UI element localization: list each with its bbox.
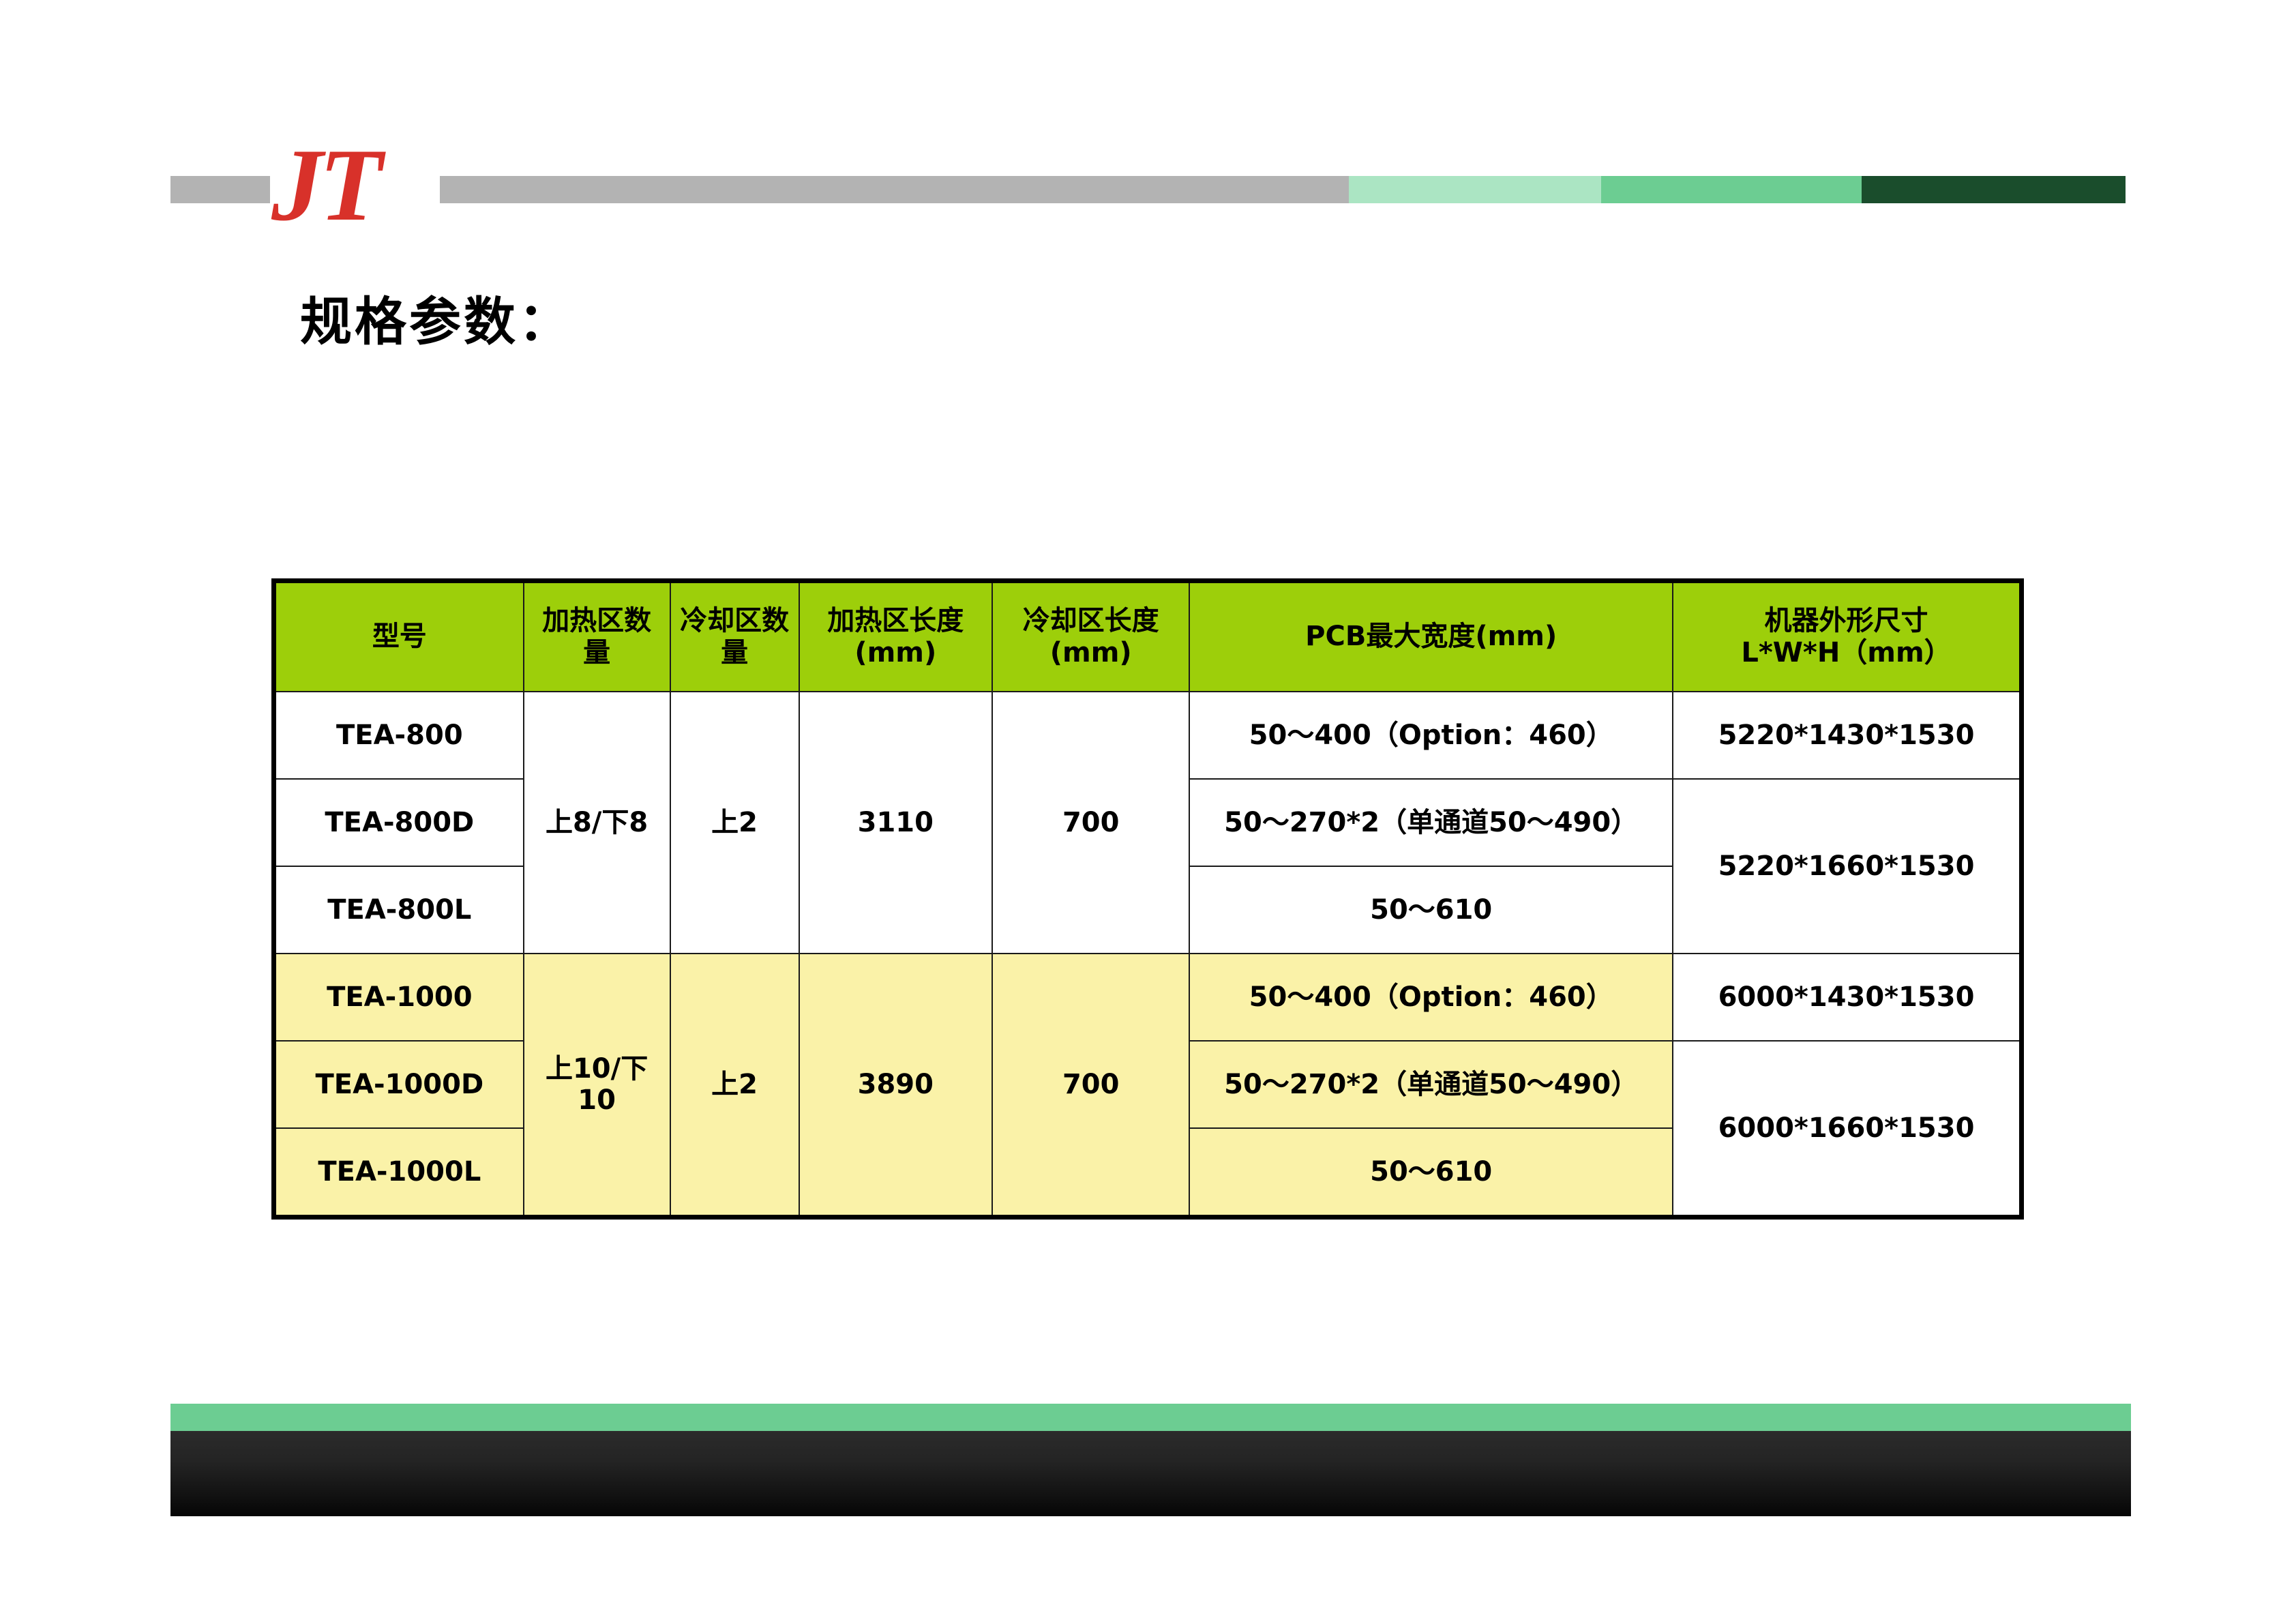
cell-pcb-width: 50～610: [1189, 1128, 1673, 1217]
cell-heating-zones: 上8/下8: [524, 692, 670, 954]
cell-pcb-width: 50～270*2（单通道50～490）: [1189, 1041, 1673, 1128]
heating-zones-line2: 量: [528, 637, 666, 669]
cell-machine-dimension: 5220*1430*1530: [1673, 692, 2021, 779]
cell-pcb-width: 50～610: [1189, 866, 1673, 954]
cell-pcb-width: 50～400（Option：460）: [1189, 692, 1673, 779]
column-header-machine-dimension: 机器外形尺寸 L*W*H（mm）: [1673, 581, 2021, 692]
heating-length-line2: (mm): [804, 637, 987, 669]
cooling-length-line1: 冷却区长度: [997, 605, 1184, 637]
page-title: 规格参数：: [300, 280, 573, 355]
spec-table-body: TEA-800 上8/下8 上2 3110 700 50～400（Option：…: [274, 692, 2022, 1217]
cooling-length-line2: (mm): [997, 637, 1184, 669]
cell-model: TEA-1000D: [274, 1041, 524, 1128]
column-header-cooling-length: 冷却区长度 (mm): [992, 581, 1189, 692]
machine-dim-line2: L*W*H（mm）: [1678, 637, 2015, 669]
header-bar-green-mid: [1601, 176, 1862, 203]
column-header-heating-length: 加热区长度 (mm): [799, 581, 992, 692]
spec-table: 型号 加热区数 量 冷却区数 量 加热区长度 (mm) 冷却区长度 (mm) P: [271, 578, 2024, 1220]
cell-machine-dimension: 6000*1660*1530: [1673, 1041, 2021, 1217]
jt-logo: JT: [271, 134, 428, 236]
cell-cooling-zones: 上2: [670, 954, 799, 1217]
table-row: TEA-800 上8/下8 上2 3110 700 50～400（Option：…: [274, 692, 2022, 779]
cell-pcb-width: 50～270*2（单通道50～490）: [1189, 779, 1673, 866]
footer-green-bar: [170, 1404, 2131, 1431]
cooling-zones-line1: 冷却区数: [675, 605, 794, 637]
header-bar-gray-main: [440, 176, 1349, 203]
cell-model: TEA-800L: [274, 866, 524, 954]
cell-model: TEA-800D: [274, 779, 524, 866]
cell-machine-dimension: 6000*1430*1530: [1673, 954, 2021, 1041]
cell-model: TEA-1000L: [274, 1128, 524, 1217]
cooling-zones-line2: 量: [675, 637, 794, 669]
header-row: 型号 加热区数 量 冷却区数 量 加热区长度 (mm) 冷却区长度 (mm) P: [274, 581, 2022, 692]
cell-pcb-width: 50～400（Option：460）: [1189, 954, 1673, 1041]
table-row: TEA-1000 上10/下10 上2 3890 700 50～400（Opti…: [274, 954, 2022, 1041]
cell-heating-length: 3890: [799, 954, 992, 1217]
column-header-pcb-width: PCB最大宽度(mm): [1189, 581, 1673, 692]
footer-band: [170, 1404, 2131, 1516]
column-header-cooling-zones: 冷却区数 量: [670, 581, 799, 692]
cell-heating-zones: 上10/下10: [524, 954, 670, 1217]
header-band: JT: [0, 0, 2296, 246]
footer-dark-bar: [170, 1431, 2131, 1516]
header-bar-green-dark: [1862, 176, 2126, 203]
cell-model: TEA-1000: [274, 954, 524, 1041]
column-header-model: 型号: [274, 581, 524, 692]
cell-model: TEA-800: [274, 692, 524, 779]
column-header-heating-zones: 加热区数 量: [524, 581, 670, 692]
header-bar-green-light: [1349, 176, 1601, 203]
cell-machine-dimension: 5220*1660*1530: [1673, 779, 2021, 954]
header-bar-gray-left: [170, 176, 270, 203]
cell-cooling-zones: 上2: [670, 692, 799, 954]
cell-heating-length: 3110: [799, 692, 992, 954]
spec-table-header: 型号 加热区数 量 冷却区数 量 加热区长度 (mm) 冷却区长度 (mm) P: [274, 581, 2022, 692]
machine-dim-line1: 机器外形尺寸: [1678, 605, 2015, 637]
cell-cooling-length: 700: [992, 954, 1189, 1217]
cell-cooling-length: 700: [992, 692, 1189, 954]
heating-length-line1: 加热区长度: [804, 605, 987, 637]
spec-table-container: 型号 加热区数 量 冷却区数 量 加热区长度 (mm) 冷却区长度 (mm) P: [271, 578, 2024, 1220]
heating-zones-line1: 加热区数: [528, 605, 666, 637]
